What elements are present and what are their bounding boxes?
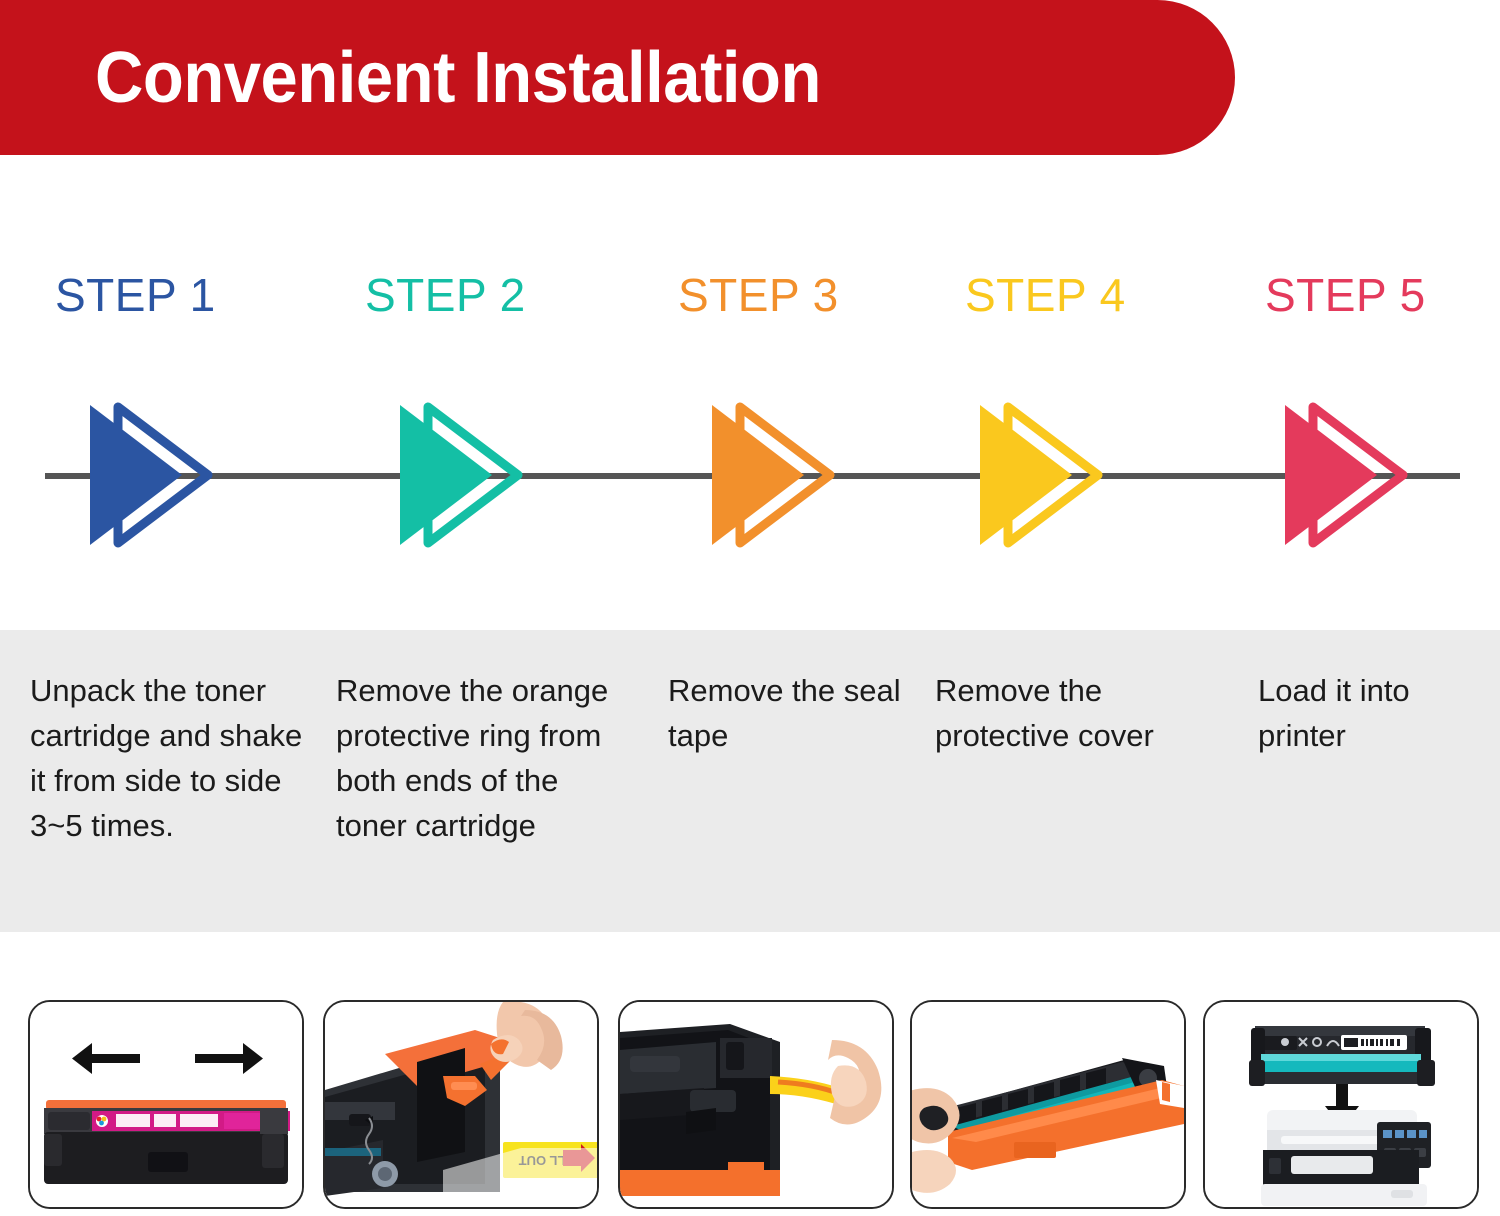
printer-image — [1261, 1110, 1431, 1206]
step-labels-row: STEP 1 STEP 2 STEP 3 STEP 4 STEP 5 — [0, 272, 1500, 342]
double-arrow-right-icon — [960, 395, 1110, 555]
step-label-2: STEP 2 — [365, 272, 526, 318]
step-label-1: STEP 1 — [55, 272, 216, 318]
double-arrow-right-icon — [692, 395, 842, 555]
panel-pull-orange-ring: PULL OUT — [323, 1000, 599, 1209]
double-arrow-right-icon — [1265, 395, 1415, 555]
descriptions-band: Unpack the toner cartridge and shake it … — [0, 630, 1500, 932]
step-label-5: STEP 5 — [1265, 272, 1426, 318]
panel-remove-cover — [910, 1000, 1186, 1209]
step-label-4: STEP 4 — [965, 272, 1126, 318]
step-description-4: Remove the protective cover — [935, 668, 1210, 758]
panel-remove-seal-tape — [618, 1000, 894, 1209]
timeline — [0, 395, 1500, 560]
header-banner: Convenient Installation — [0, 0, 1235, 155]
step-description-5: Load it into printer — [1258, 668, 1488, 758]
panel-load-into-printer — [1203, 1000, 1479, 1209]
step-description-1: Unpack the toner cartridge and shake it … — [30, 668, 320, 848]
step-description-3: Remove the seal tape — [668, 668, 918, 758]
double-arrow-right-icon — [380, 395, 530, 555]
photo-panels-row: PULL OUT — [0, 1000, 1500, 1210]
step-description-2: Remove the orange protective ring from b… — [336, 668, 626, 848]
panel-shake-cartridge — [28, 1000, 304, 1209]
toner-cartridge-image — [1249, 1026, 1435, 1086]
step-label-3: STEP 3 — [678, 272, 839, 318]
double-arrow-right-icon — [70, 395, 220, 555]
cartridge-body-image — [620, 1024, 780, 1196]
page-title: Convenient Installation — [95, 42, 821, 114]
toner-cartridge-image — [44, 1100, 290, 1184]
